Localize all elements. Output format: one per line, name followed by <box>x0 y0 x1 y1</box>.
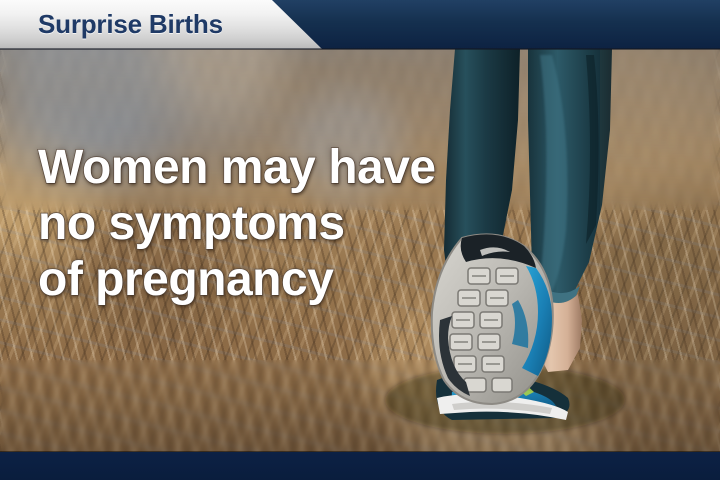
promo-graphic: Surprise Births Women may have no sympto… <box>0 0 720 480</box>
banner-divider <box>0 48 720 50</box>
headline-line-3: of pregnancy <box>38 252 478 308</box>
headline: Women may have no symptoms of pregnancy <box>38 140 478 308</box>
banner-ribbon: Surprise Births <box>0 0 324 49</box>
headline-line-2: no symptoms <box>38 196 478 252</box>
footer-bar <box>0 452 720 480</box>
top-banner: Surprise Births <box>0 0 720 49</box>
banner-title: Surprise Births <box>38 9 223 40</box>
headline-line-1: Women may have <box>38 140 478 196</box>
